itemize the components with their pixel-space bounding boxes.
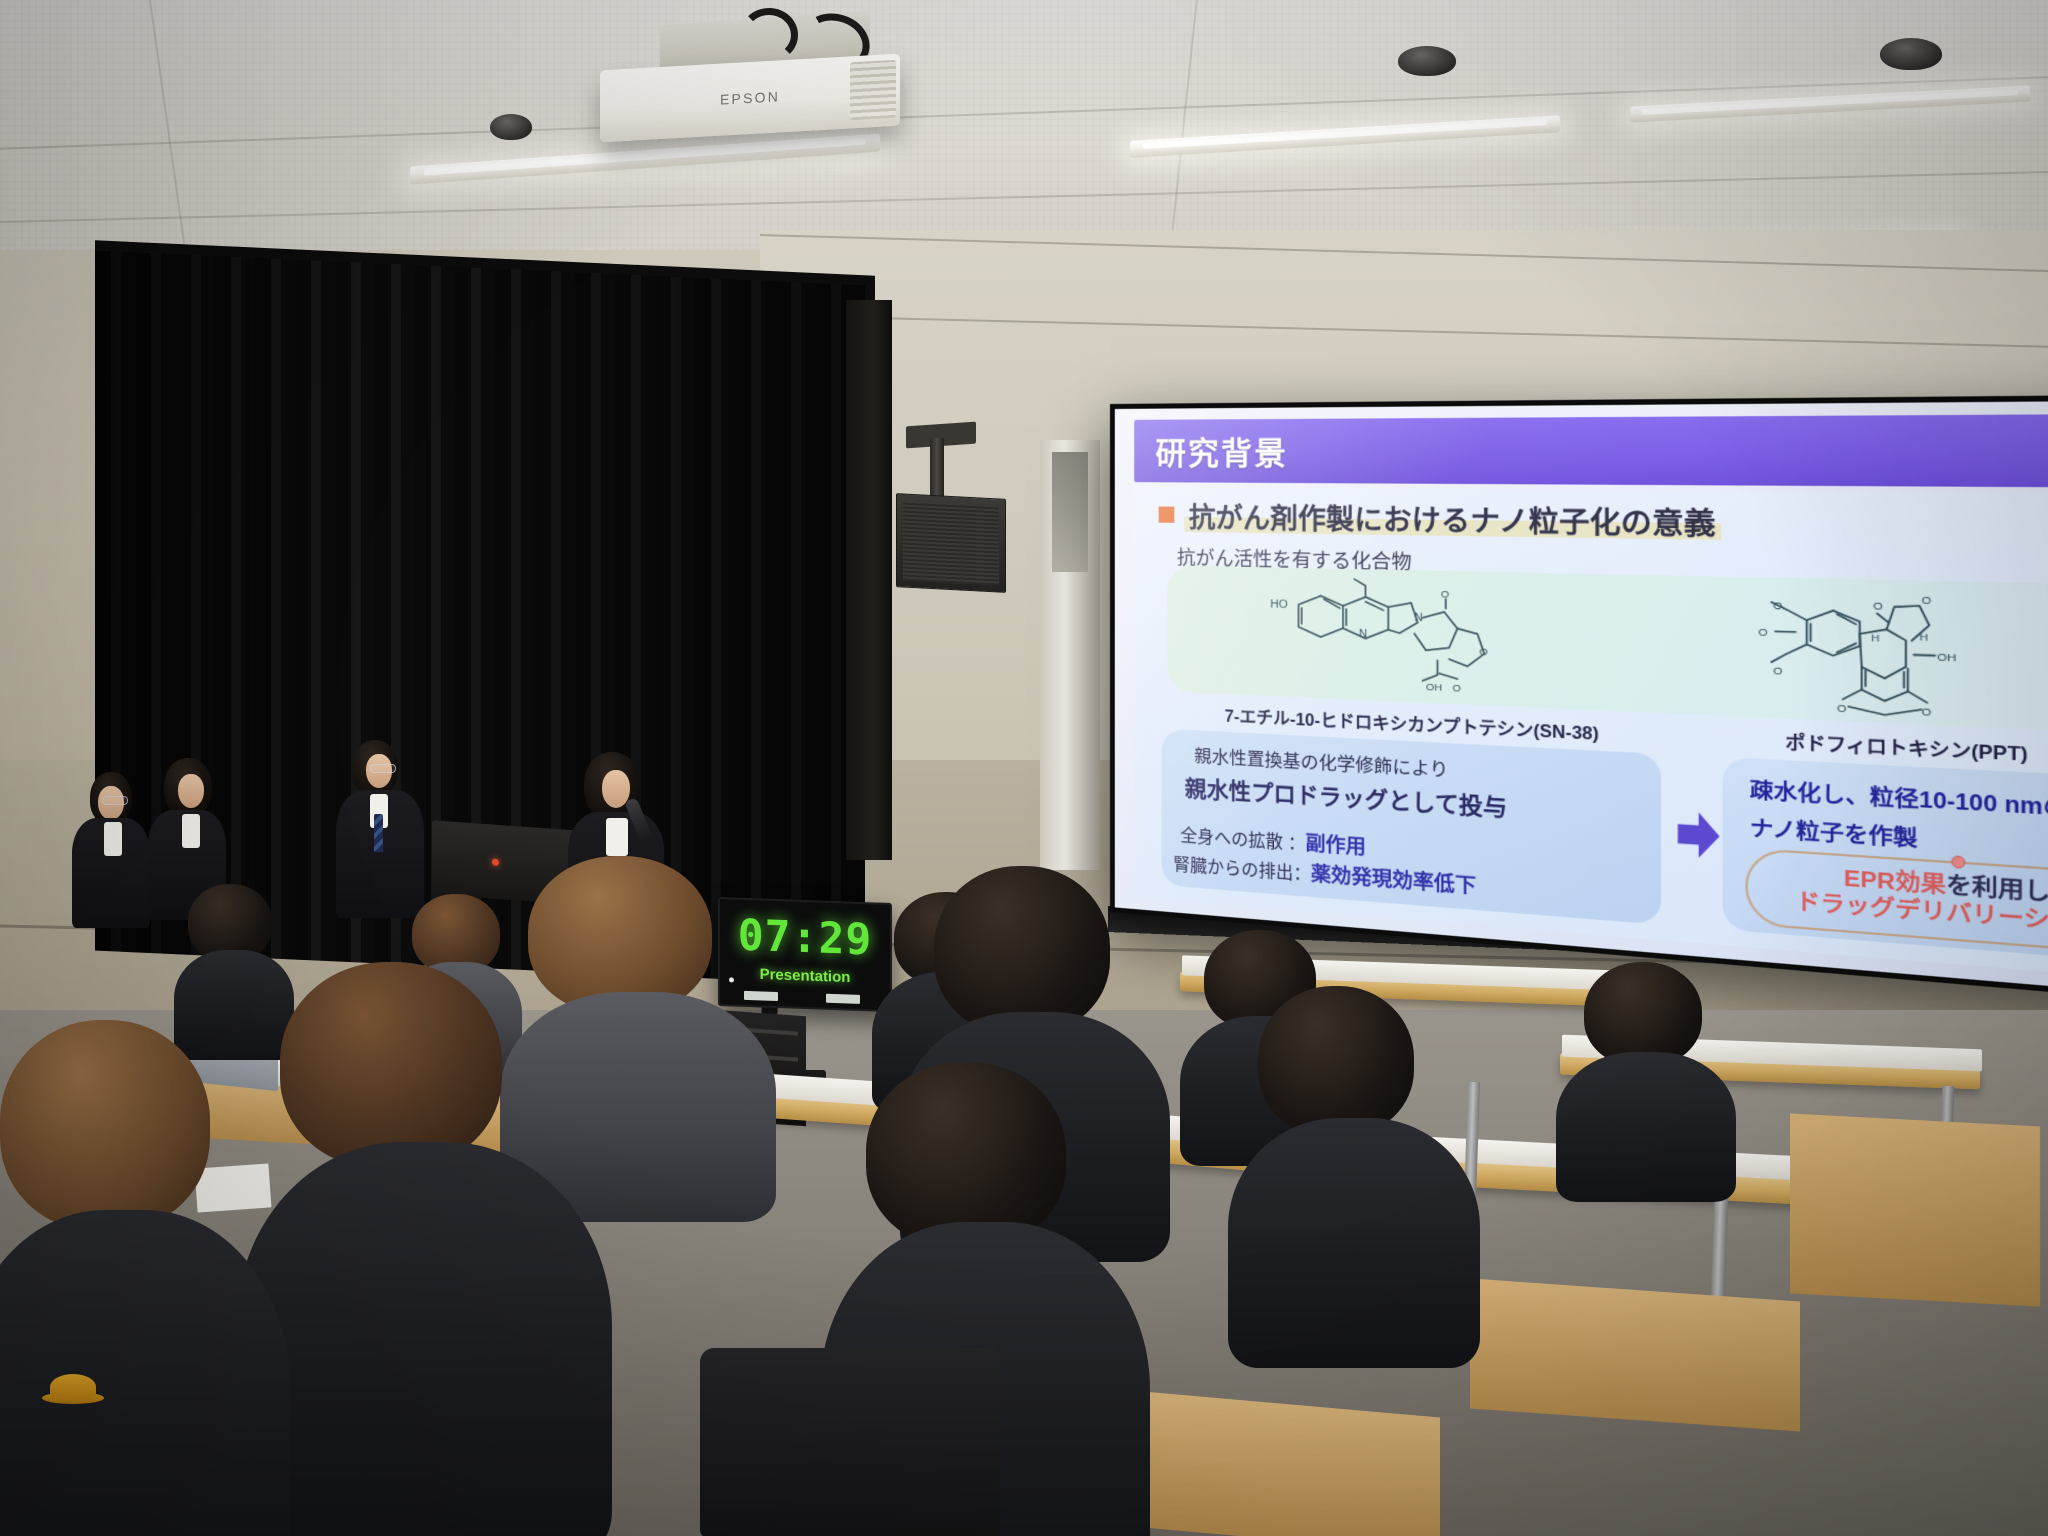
timer-button-right[interactable] xyxy=(826,994,860,1004)
molecule-structure-sn38: HO N N O xyxy=(1202,571,1598,704)
left-panel-line4-value: 薬効発現効率低下 xyxy=(1311,863,1476,899)
svg-text:O: O xyxy=(1758,627,1768,640)
right-panel-line2: ナノ粒子を作製 xyxy=(1750,810,1918,853)
right-info-panel: 疎水化し、粒径10-100 nmの ナノ粒子を作製 EPR効果を利用した ドラッ… xyxy=(1723,757,2048,968)
svg-text:O: O xyxy=(1836,702,1846,715)
door-window xyxy=(1052,452,1088,572)
slide-bullet-text: 抗がん剤作製におけるナノ粒子化の意義 xyxy=(1184,495,1722,543)
timer-mode-label: Presentation xyxy=(760,965,851,985)
projector-vent xyxy=(850,60,896,121)
projector-brand-label: EPSON xyxy=(720,88,780,107)
audience-head xyxy=(528,856,712,1014)
timer-time-display: 07:29 xyxy=(738,910,872,965)
shoulder-bag xyxy=(700,1348,1000,1536)
timer-led-icon xyxy=(729,977,734,982)
svg-text:O: O xyxy=(1773,600,1783,613)
wall-speaker-icon xyxy=(896,493,1006,593)
audience-head xyxy=(1584,962,1702,1066)
svg-text:O: O xyxy=(1441,589,1450,601)
svg-text:O: O xyxy=(1921,595,1931,608)
svg-text:O: O xyxy=(1479,647,1488,659)
audience-head xyxy=(1258,986,1414,1136)
glasses-icon xyxy=(102,796,128,805)
presenter-shirt xyxy=(606,818,628,856)
bullet-square-icon xyxy=(1158,507,1174,523)
left-panel-line3-value: 副作用 xyxy=(1305,832,1366,859)
svg-text:N: N xyxy=(1359,627,1367,640)
timer-button-left[interactable] xyxy=(744,991,778,1001)
audience-body xyxy=(1556,1052,1736,1202)
necktie xyxy=(374,814,383,852)
audience-body xyxy=(174,950,294,1060)
arrow-right-icon xyxy=(1674,806,1724,863)
ceiling-speaker-icon xyxy=(1880,38,1942,70)
presenter-shirt xyxy=(182,814,200,848)
left-info-panel: 親水性置換基の化学修飾により 親水性プロドラッグとして投与 全身への拡散 ：副作… xyxy=(1162,728,1661,924)
slide-title: 研究背景 xyxy=(1155,428,1287,474)
svg-text:H: H xyxy=(1919,632,1927,644)
svg-text:O: O xyxy=(1453,683,1462,695)
presentation-timer: 07:29 Presentation xyxy=(718,897,892,1012)
svg-text:OH: OH xyxy=(1937,652,1956,666)
svg-text:H: H xyxy=(1871,632,1879,644)
lecture-hall-photo: EPSON 研究背景 1 抗がん剤作製におけるナ xyxy=(0,0,2048,1536)
molecule-structure-ppt: O O O O O H H xyxy=(1659,581,2048,727)
presentation-slide: 研究背景 1 抗がん剤作製におけるナノ粒子化の意義 抗がん活性を有する化合物 H… xyxy=(1115,400,2048,1005)
desk-front-panel xyxy=(1790,1113,2040,1306)
podium-led-icon xyxy=(492,859,499,866)
audience-head xyxy=(0,1020,210,1230)
right-panel-line2-text: ナノ粒子を作製 xyxy=(1750,817,1918,852)
projector-cable xyxy=(740,8,798,62)
wall-pillar xyxy=(846,300,892,860)
audience-head xyxy=(934,866,1110,1034)
screen-surface: 研究背景 1 抗がん剤作製におけるナノ粒子化の意義 抗がん活性を有する化合物 H… xyxy=(1115,400,2048,1005)
capsule-dot-icon xyxy=(1951,856,1965,870)
glasses-icon xyxy=(370,764,396,773)
svg-text:N: N xyxy=(1415,611,1423,624)
svg-text:O: O xyxy=(1773,665,1783,678)
highlight-capsule: EPR効果を利用した ドラッグデリバリーシステム xyxy=(1745,848,2048,960)
slide-title-bar: 研究背景 1 xyxy=(1134,413,2048,488)
presenter-face xyxy=(178,774,204,808)
desk-front-panel xyxy=(1470,1278,1800,1431)
handout-paper xyxy=(195,1163,272,1212)
presenter-shirt xyxy=(104,822,122,856)
audience-body xyxy=(1228,1118,1480,1368)
left-panel-line4-label: 腎臓からの排出： xyxy=(1173,855,1311,885)
svg-text:O: O xyxy=(1873,601,1883,614)
audience-head xyxy=(280,962,502,1168)
projection-screen: 研究背景 1 抗がん剤作製におけるナノ粒子化の意義 抗がん活性を有する化合物 H… xyxy=(1110,394,2048,1012)
slide-bullet-row: 抗がん剤作製におけるナノ粒子化の意義 xyxy=(1158,495,1721,543)
speaker-arm xyxy=(930,438,944,502)
svg-text:OH: OH xyxy=(1426,682,1442,695)
ceiling-speaker-icon xyxy=(1398,46,1456,76)
left-panel-line2: 親水性プロドラッグとして投与 xyxy=(1185,770,1507,823)
yellow-hat-icon xyxy=(50,1374,96,1400)
speaker-grill xyxy=(903,500,999,585)
ceiling-speaker-icon xyxy=(490,114,532,140)
audience-body xyxy=(236,1142,612,1536)
svg-text:HO: HO xyxy=(1271,598,1289,611)
svg-text:O: O xyxy=(1921,706,1931,719)
audience-head xyxy=(866,1062,1066,1248)
slide-body: 抗がん剤作製におけるナノ粒子化の意義 抗がん活性を有する化合物 HO xyxy=(1134,487,2048,988)
